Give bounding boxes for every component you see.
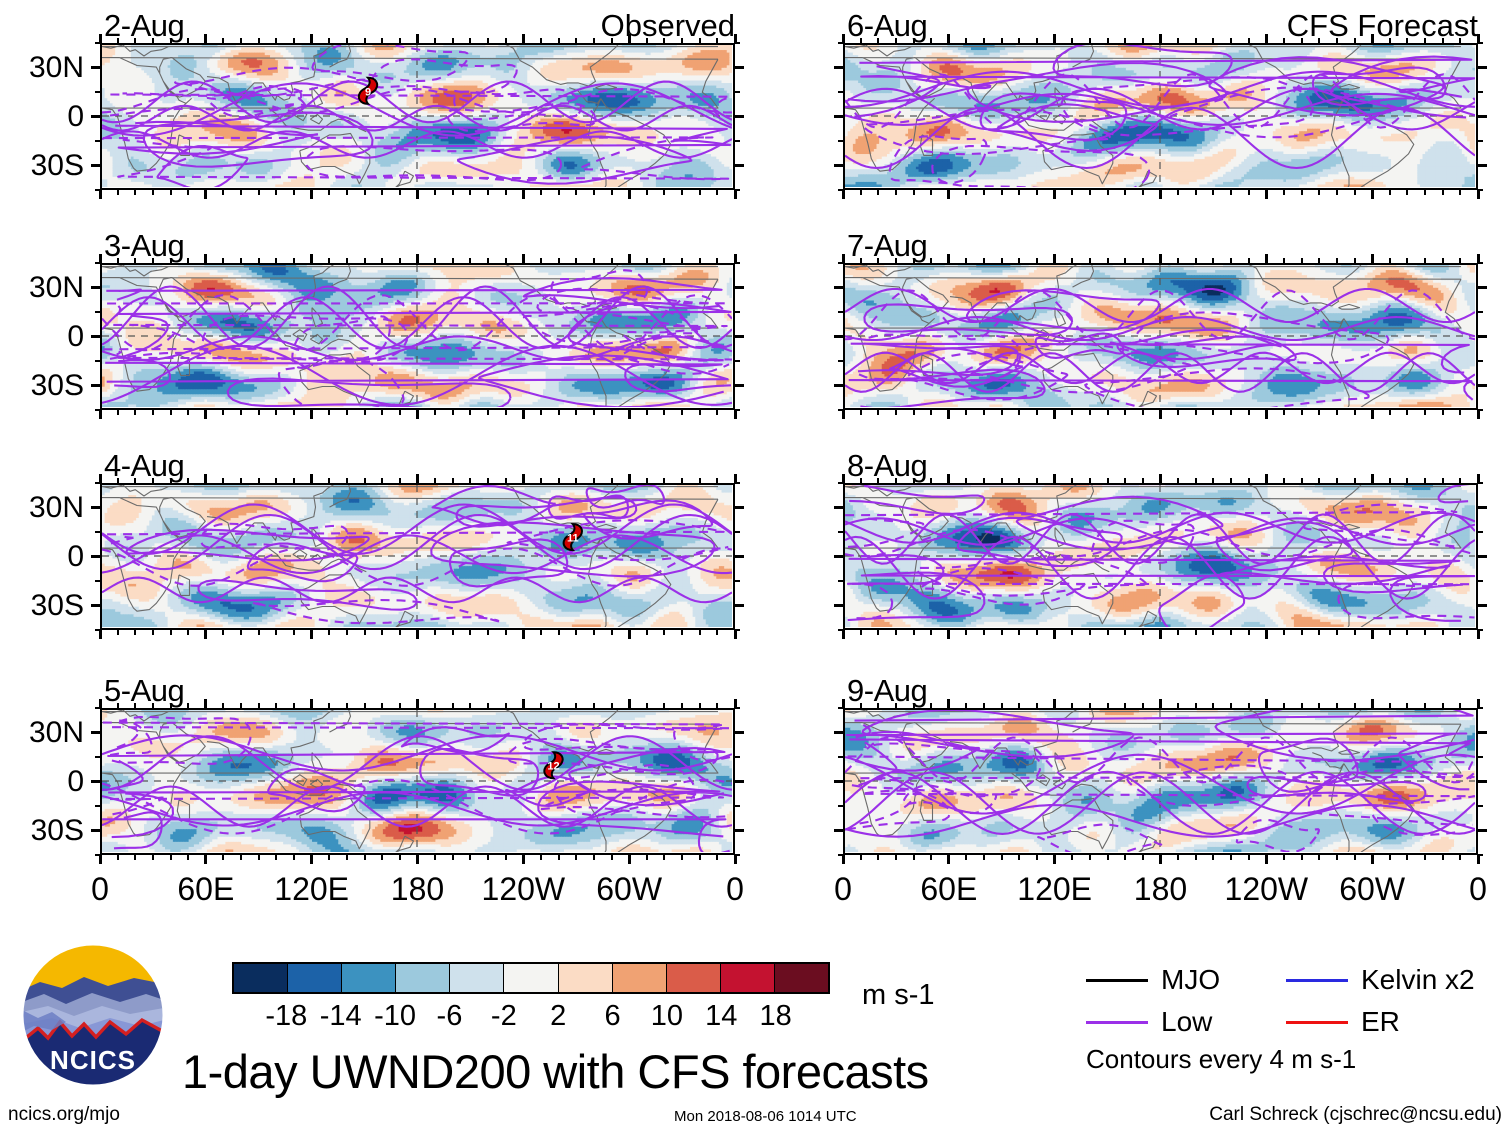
y-major-tick (1477, 66, 1487, 69)
x-minor-tick (1283, 629, 1285, 635)
x-major-tick (842, 629, 845, 639)
legend-item-er: ER (1286, 1008, 1400, 1036)
y-major-tick (734, 115, 744, 118)
x-minor-tick (965, 854, 967, 860)
x-minor-tick (558, 703, 560, 709)
y-major-tick (834, 164, 844, 167)
map-panel-6-aug[interactable] (843, 43, 1478, 190)
x-minor-tick (364, 478, 366, 484)
y-major-tick (834, 555, 844, 558)
x-minor-tick (399, 258, 401, 264)
x-minor-tick (1071, 629, 1073, 635)
x-minor-tick (1018, 854, 1020, 860)
x-minor-tick (965, 703, 967, 709)
legend-item-mjo: MJO (1086, 966, 1220, 994)
x-minor-tick (1071, 703, 1073, 709)
x-major-tick (1265, 254, 1268, 264)
x-minor-tick (558, 629, 560, 635)
x-minor-tick (381, 629, 383, 635)
y-major-tick (91, 555, 101, 558)
x-major-tick (628, 254, 631, 264)
x-minor-tick (663, 189, 665, 195)
x-minor-tick (1142, 478, 1144, 484)
x-minor-tick (452, 478, 454, 484)
x-minor-tick (965, 629, 967, 635)
x-minor-tick (1177, 38, 1179, 44)
x-minor-tick (558, 258, 560, 264)
x-minor-tick (699, 38, 701, 44)
x-minor-tick (1336, 854, 1338, 860)
x-minor-tick (983, 409, 985, 415)
x-minor-tick (877, 409, 879, 415)
x-major-tick (1053, 699, 1056, 709)
x-minor-tick (699, 258, 701, 264)
x-major-tick (734, 189, 737, 199)
x-major-tick (1477, 34, 1480, 44)
map-panel-7-aug[interactable] (843, 263, 1478, 410)
map-panel-5-aug[interactable]: 12 (100, 708, 735, 855)
x-minor-tick (575, 38, 577, 44)
y-minor-tick (838, 531, 844, 533)
x-minor-tick (575, 189, 577, 195)
x-minor-tick (540, 409, 542, 415)
y-major-tick (834, 829, 844, 832)
x-minor-tick (1142, 258, 1144, 264)
x-minor-tick (1354, 38, 1356, 44)
x-minor-tick (505, 189, 507, 195)
x-minor-tick (187, 38, 189, 44)
x-minor-tick (487, 38, 489, 44)
x-axis-tick-label: 180 (1101, 873, 1221, 905)
x-minor-tick (275, 629, 277, 635)
colorbar-segment (503, 964, 557, 992)
x-minor-tick (1318, 703, 1320, 709)
x-minor-tick (965, 189, 967, 195)
map-panel-2-aug[interactable]: 9 (100, 43, 735, 190)
x-axis-tick-label: 60E (889, 873, 1009, 905)
map-panel-9-aug[interactable] (843, 708, 1478, 855)
x-minor-tick (593, 258, 595, 264)
panel-date-label-8-aug: 8-Aug (847, 450, 927, 481)
x-minor-tick (469, 629, 471, 635)
y-major-tick (834, 506, 844, 509)
x-minor-tick (593, 38, 595, 44)
map-panel-8-aug[interactable] (843, 483, 1478, 630)
x-minor-tick (346, 854, 348, 860)
map-canvas (845, 265, 1475, 407)
y-axis-tick-label: 30S (0, 151, 84, 181)
x-major-tick (1371, 629, 1374, 639)
x-minor-tick (646, 189, 648, 195)
x-minor-tick (1212, 478, 1214, 484)
x-minor-tick (895, 478, 897, 484)
x-minor-tick (877, 258, 879, 264)
y-major-tick (734, 384, 744, 387)
x-minor-tick (611, 478, 613, 484)
x-major-tick (99, 629, 102, 639)
x-major-tick (1371, 699, 1374, 709)
legend-label: Low (1161, 1008, 1212, 1036)
x-minor-tick (895, 703, 897, 709)
footer-author: Carl Schreck (cjschrec@ncsu.edu) (1209, 1104, 1502, 1126)
x-minor-tick (1406, 478, 1408, 484)
x-minor-tick (434, 38, 436, 44)
map-canvas (845, 45, 1475, 187)
x-minor-tick (487, 478, 489, 484)
x-minor-tick (1071, 38, 1073, 44)
x-minor-tick (1142, 629, 1144, 635)
x-minor-tick (469, 703, 471, 709)
x-minor-tick (1354, 189, 1356, 195)
x-minor-tick (1389, 258, 1391, 264)
x-major-tick (1265, 34, 1268, 44)
x-minor-tick (895, 409, 897, 415)
x-minor-tick (364, 854, 366, 860)
x-minor-tick (1195, 478, 1197, 484)
x-minor-tick (275, 478, 277, 484)
x-minor-tick (1336, 478, 1338, 484)
y-major-tick (834, 780, 844, 783)
x-minor-tick (1089, 258, 1091, 264)
x-minor-tick (983, 189, 985, 195)
x-major-tick (99, 189, 102, 199)
x-minor-tick (1389, 409, 1391, 415)
x-major-tick (1159, 34, 1162, 44)
x-minor-tick (452, 629, 454, 635)
x-minor-tick (646, 854, 648, 860)
x-minor-tick (1230, 189, 1232, 195)
x-major-tick (1371, 409, 1374, 419)
x-minor-tick (1089, 189, 1091, 195)
x-minor-tick (877, 38, 879, 44)
x-minor-tick (293, 629, 295, 635)
x-minor-tick (1318, 629, 1320, 635)
x-minor-tick (469, 854, 471, 860)
x-minor-tick (1089, 409, 1091, 415)
x-minor-tick (699, 854, 701, 860)
legend-item-low: Low (1086, 1008, 1212, 1036)
x-major-tick (734, 34, 737, 44)
x-minor-tick (381, 409, 383, 415)
x-minor-tick (1001, 703, 1003, 709)
y-axis-tick-label: 0 (0, 767, 84, 797)
x-minor-tick (1177, 189, 1179, 195)
x-minor-tick (293, 478, 295, 484)
y-minor-tick (734, 531, 740, 533)
y-major-tick (91, 731, 101, 734)
x-major-tick (416, 409, 419, 419)
x-minor-tick (983, 703, 985, 709)
x-minor-tick (1283, 854, 1285, 860)
x-minor-tick (1230, 854, 1232, 860)
x-major-tick (734, 699, 737, 709)
x-minor-tick (1212, 258, 1214, 264)
x-major-tick (1053, 189, 1056, 199)
x-minor-tick (895, 629, 897, 635)
x-minor-tick (152, 854, 154, 860)
x-minor-tick (1124, 478, 1126, 484)
x-minor-tick (222, 189, 224, 195)
x-minor-tick (913, 409, 915, 415)
x-minor-tick (1089, 478, 1091, 484)
x-minor-tick (1442, 629, 1444, 635)
x-minor-tick (1071, 189, 1073, 195)
y-minor-tick (95, 91, 101, 93)
x-major-tick (734, 409, 737, 419)
y-minor-tick (838, 91, 844, 93)
x-minor-tick (117, 854, 119, 860)
y-major-tick (91, 604, 101, 607)
x-minor-tick (1071, 258, 1073, 264)
x-minor-tick (983, 629, 985, 635)
x-minor-tick (117, 38, 119, 44)
x-minor-tick (1018, 478, 1020, 484)
y-major-tick (1477, 506, 1487, 509)
x-minor-tick (134, 38, 136, 44)
x-minor-tick (1001, 189, 1003, 195)
y-axis-tick-label: 30N (0, 718, 84, 748)
x-minor-tick (930, 703, 932, 709)
x-major-tick (99, 699, 102, 709)
x-minor-tick (1177, 258, 1179, 264)
x-minor-tick (716, 38, 718, 44)
x-major-tick (734, 854, 737, 864)
x-minor-tick (117, 189, 119, 195)
x-minor-tick (699, 189, 701, 195)
x-minor-tick (1195, 38, 1197, 44)
x-minor-tick (258, 854, 260, 860)
x-minor-tick (540, 258, 542, 264)
x-major-tick (1159, 474, 1162, 484)
x-minor-tick (328, 189, 330, 195)
y-major-tick (734, 164, 744, 167)
x-minor-tick (452, 854, 454, 860)
x-minor-tick (505, 478, 507, 484)
x-minor-tick (1107, 258, 1109, 264)
x-minor-tick (1230, 703, 1232, 709)
x-minor-tick (452, 189, 454, 195)
x-major-tick (99, 474, 102, 484)
x-major-tick (1159, 189, 1162, 199)
x-minor-tick (134, 258, 136, 264)
x-minor-tick (505, 629, 507, 635)
x-major-tick (947, 189, 950, 199)
x-minor-tick (487, 409, 489, 415)
x-minor-tick (117, 409, 119, 415)
x-minor-tick (1071, 478, 1073, 484)
x-minor-tick (663, 629, 665, 635)
x-minor-tick (1142, 703, 1144, 709)
x-axis-tick-label: 60E (146, 873, 266, 905)
x-minor-tick (1195, 703, 1197, 709)
x-minor-tick (346, 409, 348, 415)
y-axis-tick-label: 0 (0, 322, 84, 352)
x-minor-tick (1195, 629, 1197, 635)
colorbar-segment (774, 964, 828, 992)
x-major-tick (628, 474, 631, 484)
x-minor-tick (558, 38, 560, 44)
x-minor-tick (1318, 38, 1320, 44)
legend-line-swatch (1286, 979, 1348, 982)
y-major-tick (91, 335, 101, 338)
x-minor-tick (1301, 189, 1303, 195)
y-major-tick (734, 66, 744, 69)
x-axis-tick-label: 0 (783, 873, 903, 905)
x-minor-tick (1230, 629, 1232, 635)
x-minor-tick (1142, 409, 1144, 415)
x-minor-tick (1107, 703, 1109, 709)
x-axis-tick-label: 60W (569, 873, 689, 905)
x-axis-tick-label: 0 (40, 873, 160, 905)
y-major-tick (834, 731, 844, 734)
x-major-tick (310, 254, 313, 264)
x-minor-tick (1018, 703, 1020, 709)
x-minor-tick (275, 854, 277, 860)
x-minor-tick (399, 854, 401, 860)
x-minor-tick (222, 478, 224, 484)
x-minor-tick (965, 258, 967, 264)
y-axis-tick-label: 30N (0, 493, 84, 523)
x-minor-tick (681, 703, 683, 709)
x-minor-tick (663, 258, 665, 264)
y-major-tick (734, 555, 744, 558)
x-minor-tick (487, 703, 489, 709)
x-minor-tick (1142, 38, 1144, 44)
y-major-tick (834, 384, 844, 387)
colorbar-segment (395, 964, 449, 992)
footer-site-link[interactable]: ncics.org/mjo (8, 1104, 120, 1126)
x-minor-tick (399, 703, 401, 709)
x-minor-tick (1389, 189, 1391, 195)
x-minor-tick (1071, 409, 1073, 415)
x-minor-tick (1001, 38, 1003, 44)
x-axis-tick-label: 120E (252, 873, 372, 905)
legend-line-swatch (1086, 979, 1148, 982)
x-minor-tick (877, 478, 879, 484)
x-major-tick (1053, 629, 1056, 639)
x-minor-tick (1336, 258, 1338, 264)
x-minor-tick (1177, 409, 1179, 415)
x-minor-tick (1283, 38, 1285, 44)
y-minor-tick (1477, 140, 1483, 142)
x-minor-tick (681, 854, 683, 860)
x-minor-tick (381, 478, 383, 484)
x-minor-tick (1036, 478, 1038, 484)
x-minor-tick (293, 703, 295, 709)
x-minor-tick (346, 629, 348, 635)
y-minor-tick (734, 580, 740, 582)
y-minor-tick (1477, 531, 1483, 533)
x-minor-tick (1195, 258, 1197, 264)
x-major-tick (628, 189, 631, 199)
x-minor-tick (293, 38, 295, 44)
map-panel-4-aug[interactable]: 11 (100, 483, 735, 630)
x-major-tick (204, 474, 207, 484)
x-minor-tick (983, 258, 985, 264)
legend-label: MJO (1161, 966, 1220, 994)
x-minor-tick (1424, 409, 1426, 415)
x-major-tick (416, 34, 419, 44)
x-minor-tick (895, 258, 897, 264)
x-minor-tick (187, 189, 189, 195)
x-minor-tick (1406, 854, 1408, 860)
x-minor-tick (930, 629, 932, 635)
x-major-tick (416, 629, 419, 639)
x-minor-tick (611, 854, 613, 860)
y-axis-tick-label: 0 (0, 542, 84, 572)
x-major-tick (1477, 254, 1480, 264)
x-minor-tick (716, 409, 718, 415)
x-major-tick (416, 854, 419, 864)
y-axis-tick-label: 30S (0, 371, 84, 401)
x-major-tick (734, 474, 737, 484)
x-minor-tick (593, 629, 595, 635)
x-minor-tick (1301, 258, 1303, 264)
x-minor-tick (381, 854, 383, 860)
x-minor-tick (134, 409, 136, 415)
x-minor-tick (399, 409, 401, 415)
x-minor-tick (646, 258, 648, 264)
x-minor-tick (469, 189, 471, 195)
x-minor-tick (293, 854, 295, 860)
x-major-tick (310, 854, 313, 864)
x-minor-tick (258, 258, 260, 264)
x-minor-tick (275, 258, 277, 264)
x-minor-tick (1301, 629, 1303, 635)
legend-line-swatch (1286, 1021, 1348, 1024)
x-minor-tick (965, 38, 967, 44)
x-minor-tick (895, 854, 897, 860)
x-minor-tick (1406, 409, 1408, 415)
x-minor-tick (1424, 189, 1426, 195)
x-minor-tick (593, 854, 595, 860)
x-minor-tick (930, 409, 932, 415)
x-minor-tick (877, 189, 879, 195)
x-minor-tick (1071, 854, 1073, 860)
x-major-tick (628, 629, 631, 639)
x-major-tick (310, 474, 313, 484)
y-major-tick (1477, 335, 1487, 338)
x-minor-tick (1036, 189, 1038, 195)
x-major-tick (204, 189, 207, 199)
x-major-tick (1371, 34, 1374, 44)
x-minor-tick (540, 854, 542, 860)
y-major-tick (1477, 731, 1487, 734)
x-minor-tick (1459, 189, 1461, 195)
x-minor-tick (187, 629, 189, 635)
x-minor-tick (152, 409, 154, 415)
x-minor-tick (1089, 629, 1091, 635)
x-minor-tick (364, 38, 366, 44)
x-minor-tick (1283, 258, 1285, 264)
x-minor-tick (1124, 258, 1126, 264)
x-minor-tick (1107, 854, 1109, 860)
x-minor-tick (1318, 189, 1320, 195)
x-major-tick (1053, 409, 1056, 419)
x-minor-tick (275, 409, 277, 415)
x-minor-tick (1424, 478, 1426, 484)
x-minor-tick (505, 703, 507, 709)
x-minor-tick (364, 703, 366, 709)
y-minor-tick (95, 531, 101, 533)
x-major-tick (628, 699, 631, 709)
x-minor-tick (399, 629, 401, 635)
map-panel-3-aug[interactable] (100, 263, 735, 410)
x-major-tick (628, 854, 631, 864)
x-minor-tick (381, 258, 383, 264)
x-minor-tick (434, 409, 436, 415)
x-minor-tick (1406, 189, 1408, 195)
